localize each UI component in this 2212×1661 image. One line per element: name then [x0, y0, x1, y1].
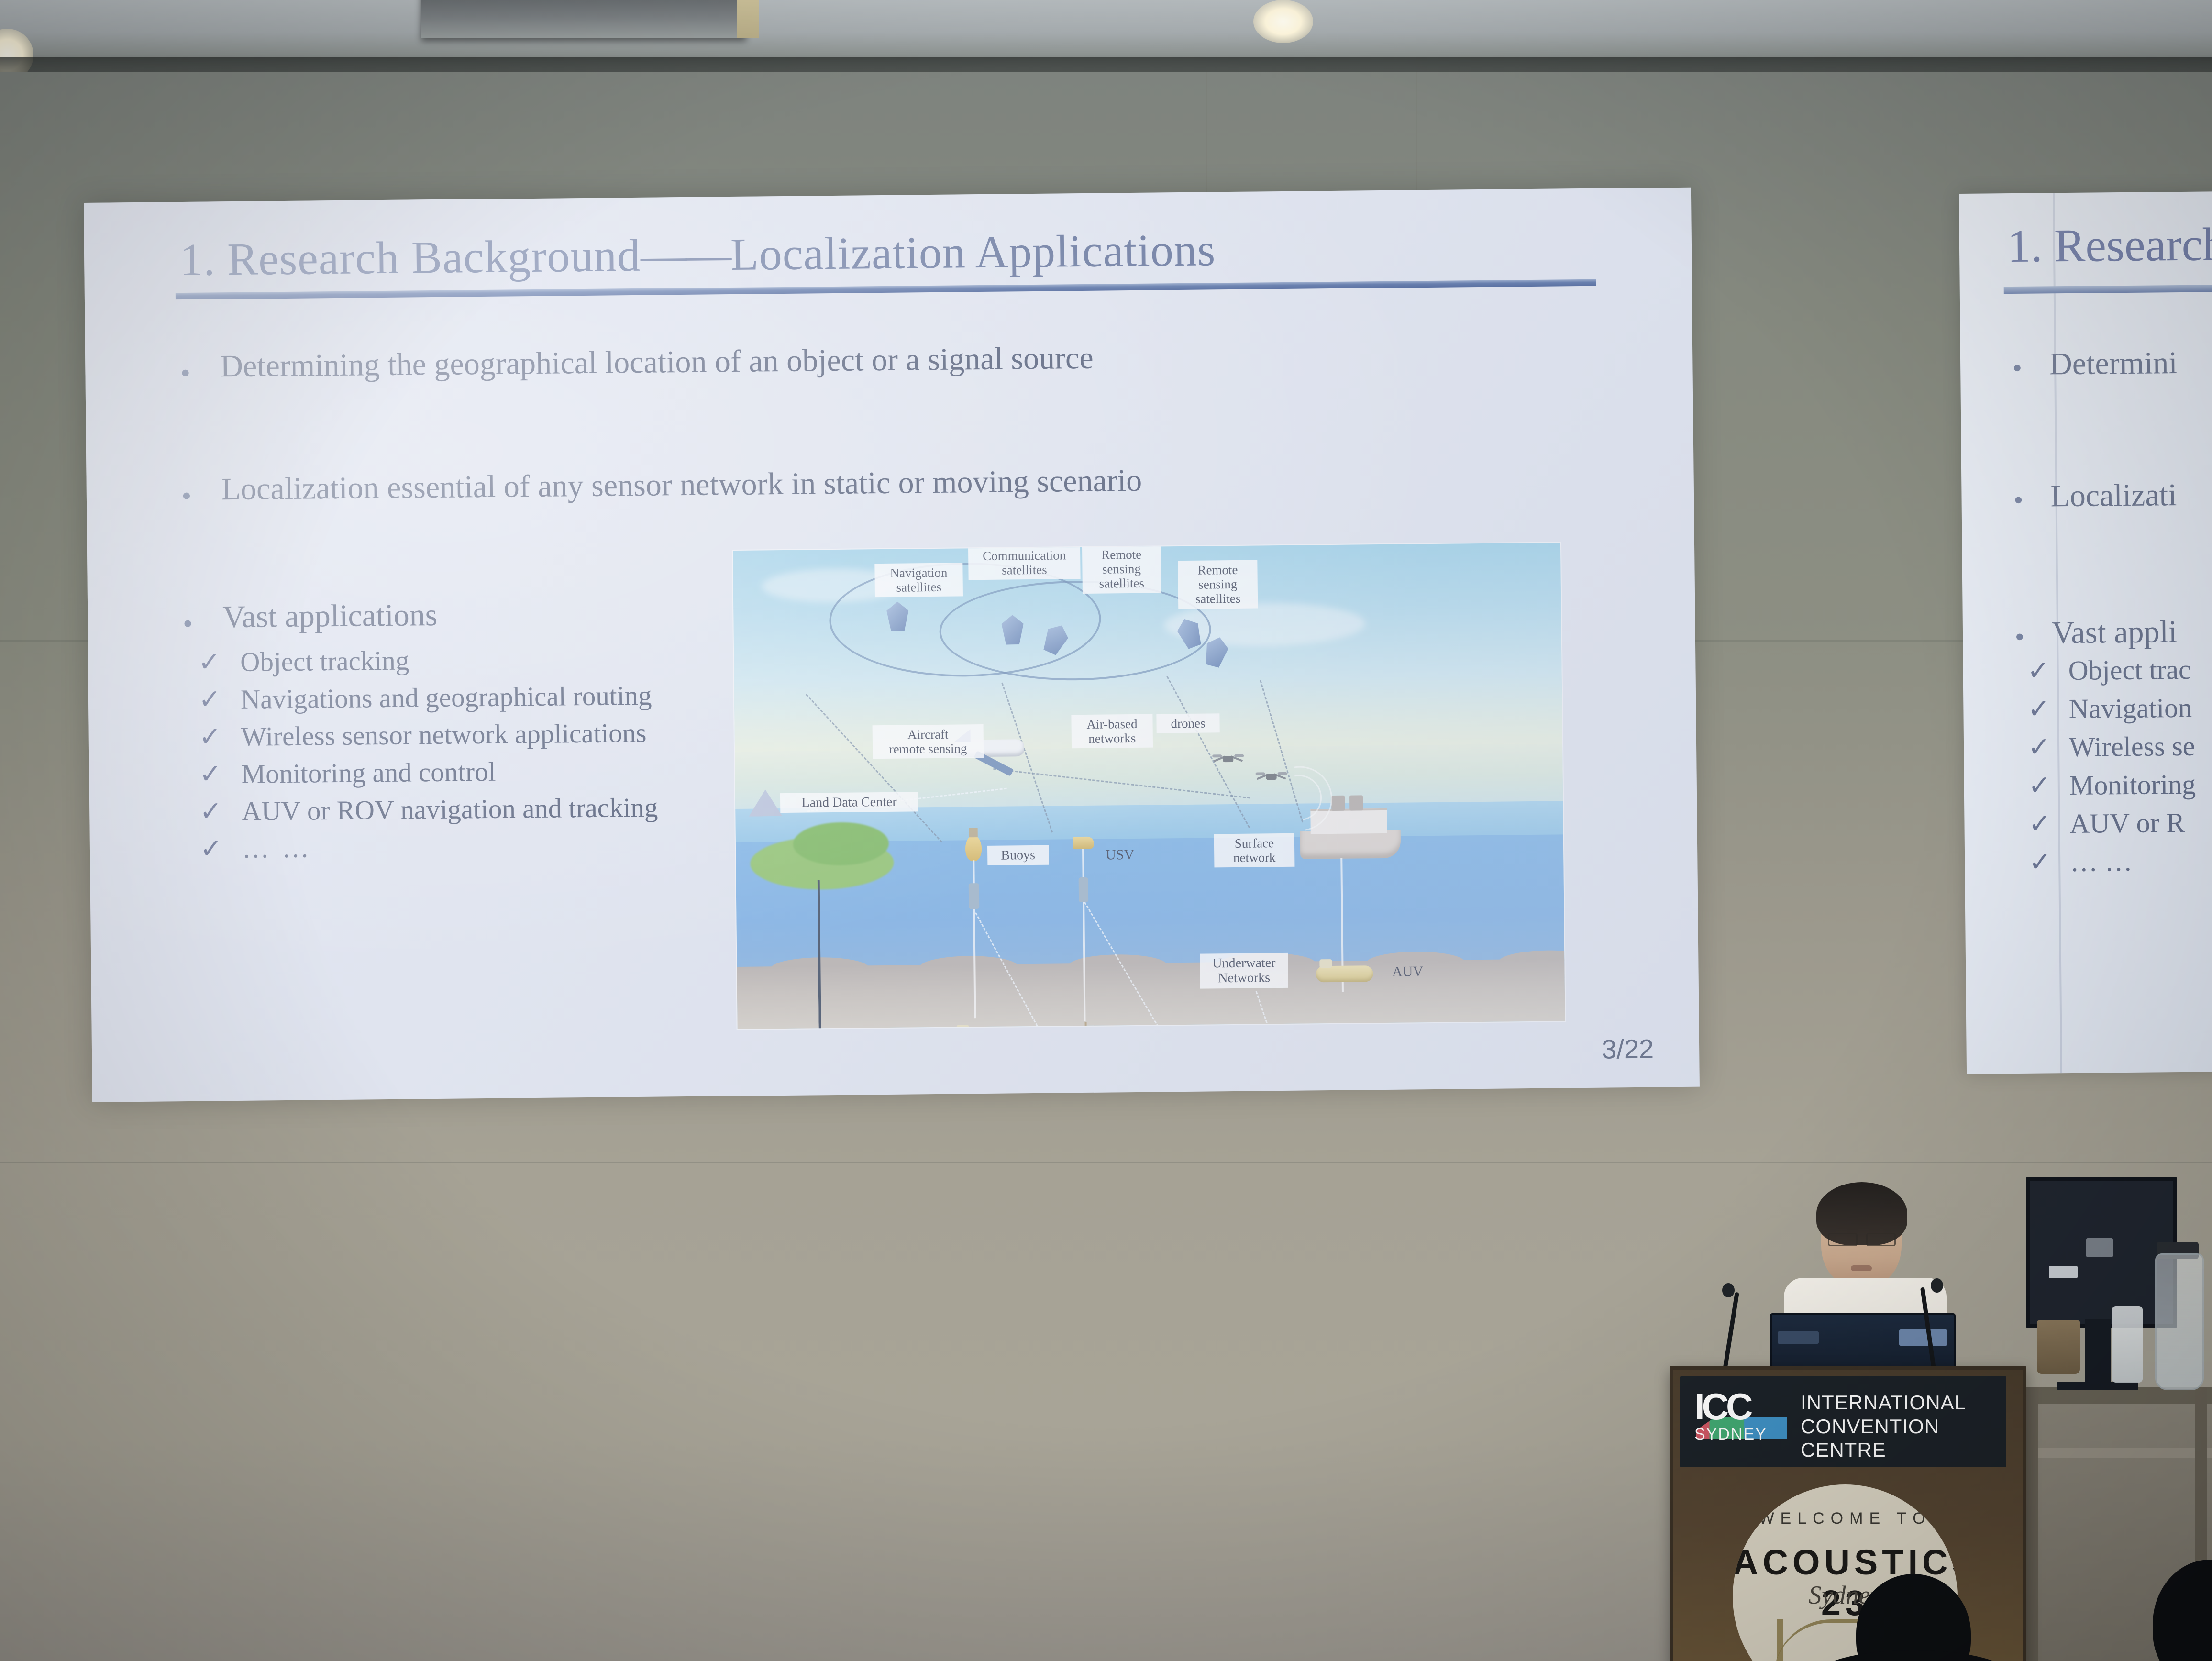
figure-label-underwater-networks: Underwater Networks — [1200, 953, 1288, 988]
bullet-dot-icon: • — [2015, 625, 2024, 649]
bullet-text: Determini — [2049, 345, 2178, 382]
check-icon: ✓ — [2028, 770, 2056, 801]
bullet-text: Localizati — [2050, 477, 2177, 514]
figure-label-aircraft-remote-sensing: Aircraft remote sensing — [873, 724, 984, 759]
buoy-mast — [969, 828, 978, 837]
slide-page-number: 3/22 — [1602, 1033, 1654, 1065]
checklist-text: Object tracking — [240, 647, 409, 675]
auv-fin — [957, 1025, 969, 1029]
bullet-item: • Vast appli — [2015, 612, 2212, 652]
bridge-pylon — [1777, 1619, 1783, 1661]
slide: 1. Research Background——Localization App… — [84, 188, 1700, 1102]
conference-room-photo: 1. Research Background——Localization App… — [0, 0, 2212, 1661]
microphone-head-icon — [1722, 1283, 1735, 1297]
bullet-dot-icon: • — [183, 611, 193, 636]
figure-label-auv: AUV — [1381, 961, 1434, 983]
buoy-icon — [965, 835, 982, 861]
check-icon: ✓ — [199, 686, 226, 713]
figure-label-communication-satellites: Communication satellites — [968, 545, 1081, 580]
check-icon: ✓ — [2027, 655, 2054, 686]
lectern-branding-plate: ICC SYDNEY INTERNATIONAL CONVENTION CENT… — [1680, 1376, 2006, 1467]
checklist-text: Navigations and geographical routing — [241, 682, 652, 713]
bullet-text: Determining the geographical location of… — [220, 342, 1094, 383]
laptop-sticker — [1778, 1331, 1819, 1344]
welcome-line: WELCOME TO — [1733, 1509, 1958, 1528]
secondary-projection-screen: 1. Research B • Determini • Localizati •… — [1959, 191, 2212, 1074]
check-icon: ✓ — [199, 798, 227, 825]
monitor-logo-icon — [2086, 1238, 2113, 1257]
spacer — [2013, 379, 2212, 478]
lectern: ICC SYDNEY INTERNATIONAL CONVENTION CENT… — [1670, 1366, 2026, 1661]
usv-icon — [1073, 837, 1094, 849]
checklist-item: ✓ Navigation — [2016, 687, 2212, 728]
figure-label-drones: drones — [1156, 713, 1219, 733]
bullet-item: • Determini — [2013, 343, 2212, 383]
side-slide-title: 1. Research B — [2007, 217, 2212, 273]
side-checklist: ✓ Object trac ✓ Navigation ✓ Wireless se… — [2015, 648, 2212, 881]
auv-icon — [1316, 965, 1373, 982]
figure-label-land-data-center: Land Data Center — [780, 792, 918, 813]
drone-rotor — [1212, 754, 1222, 757]
bullet-text: Vast applications — [222, 598, 438, 634]
table-rail — [2021, 1448, 2212, 1458]
checklist-text: AUV or ROV navigation and tracking — [242, 794, 658, 825]
slide-title-prefix: 1. Research Background — [180, 230, 641, 285]
paper-cup — [2037, 1320, 2080, 1374]
ship-funnel — [1331, 796, 1345, 811]
side-bullet-list: • Determini • Localizati • Vast appli ✓ … — [2013, 343, 2212, 881]
checklist-text: AUV or R — [2069, 806, 2185, 839]
checklist-text: Wireless sensor network applications — [241, 719, 646, 750]
monitor-port — [2049, 1266, 2078, 1278]
submarine-cable — [818, 879, 879, 1029]
drone-rotor — [1256, 772, 1265, 775]
bullet-item: • Localization essential of any sensor n… — [182, 466, 929, 509]
bullet-item: • Localizati — [2014, 475, 2212, 515]
drone-body — [1223, 756, 1233, 762]
slide-title-dash: —— — [641, 229, 731, 281]
ceiling-speaker-box — [421, 0, 746, 38]
checklist-item: ✓ Object trac — [2015, 648, 2212, 690]
wall-seam — [0, 1162, 2212, 1163]
bullet-dot-icon: • — [2014, 488, 2023, 512]
check-icon: ✓ — [2028, 731, 2055, 763]
bullet-text: Localization essential of any sensor net… — [221, 464, 1142, 506]
buoy-sensor-node — [969, 883, 980, 909]
checklist-text: … … — [2070, 845, 2133, 877]
laptop-screen-glow — [1899, 1329, 1947, 1346]
figure-label-surface-network: Surface network — [1214, 833, 1295, 868]
bullet-dot-icon: • — [181, 361, 190, 386]
glasses-icon — [1828, 1233, 1896, 1243]
check-icon: ✓ — [2029, 846, 2056, 877]
checklist-text: Object trac — [2068, 653, 2191, 686]
drone-icon — [1213, 752, 1243, 766]
monitor-rear — [2026, 1177, 2177, 1328]
bullet-item: • Determining the geographical location … — [181, 343, 928, 386]
checklist-text: Wireless se — [2069, 730, 2195, 763]
ceiling-trim-strip — [737, 0, 759, 38]
checklist-item: ✓ Wireless se — [2016, 725, 2212, 766]
main-projection-screen: 1. Research Background——Localization App… — [84, 188, 1700, 1102]
ceiling-downlight — [1253, 0, 1313, 43]
figure-label-navigation-satellites: Navigation satellites — [874, 563, 963, 597]
checklist-item: ✓ AUV or R — [2017, 801, 2212, 843]
table-leg — [2026, 1387, 2038, 1661]
checklist-text: Monitoring — [2069, 768, 2196, 801]
bullet-dot-icon: • — [2013, 356, 2022, 380]
checklist-text: … … — [242, 834, 312, 862]
figure-label-remote-sensing-satellites: Remote sensing satellites — [1082, 544, 1161, 593]
slide-title: 1. Research Background——Localization App… — [180, 223, 1216, 286]
check-icon: ✓ — [2027, 693, 2055, 724]
check-icon: ✓ — [199, 761, 226, 788]
check-icon: ✓ — [199, 723, 226, 751]
check-icon: ✓ — [2028, 808, 2056, 839]
icc-logo-wordmark: INTERNATIONAL CONVENTION CENTRE — [1801, 1391, 1966, 1462]
figure-label-usv: USV — [1095, 844, 1144, 866]
figure-label-air-based-networks: Air-based networks — [1071, 714, 1153, 749]
check-icon: ✓ — [200, 835, 227, 863]
water-carafe — [2155, 1253, 2204, 1390]
monitor-stand — [2085, 1319, 2111, 1386]
drone-rotor — [1234, 754, 1244, 757]
checklist-item: ✓ … … — [2017, 840, 2212, 881]
spacer — [2014, 511, 2212, 615]
check-icon: ✓ — [198, 649, 225, 676]
slide-title-suffix: Localization Applications — [730, 224, 1216, 280]
monitor-base — [2057, 1382, 2138, 1390]
checklist-text: Monitoring and control — [241, 758, 496, 787]
icc-logo: ICC SYDNEY — [1694, 1390, 1790, 1452]
bullet-dot-icon: • — [182, 484, 192, 509]
checklist-item: ✓ Monitoring — [2016, 763, 2212, 805]
figure-label-buoys: Buoys — [987, 845, 1049, 866]
microphone-head-icon — [1931, 1278, 1943, 1293]
side-title-rule — [2004, 284, 2212, 294]
auv-fin — [1319, 959, 1332, 968]
ship-funnel — [1349, 795, 1363, 810]
presenter-mouth — [1851, 1265, 1872, 1271]
spacer — [181, 382, 929, 473]
checklist-text: Navigation — [2068, 691, 2192, 724]
icc-logo-swoosh — [1696, 1417, 1787, 1439]
figure-label-remote-sensing-satellites: Remote sensing satellites — [1178, 560, 1258, 609]
usv-sensor-node — [1079, 877, 1088, 902]
water-glass — [2112, 1306, 2143, 1383]
bullet-text: Vast appli — [2052, 614, 2178, 651]
ocean-network-figure: Navigation satellites Communication sate… — [733, 543, 1565, 1029]
ship-hull — [1300, 830, 1401, 859]
surface-vessel-icon — [1300, 830, 1401, 859]
